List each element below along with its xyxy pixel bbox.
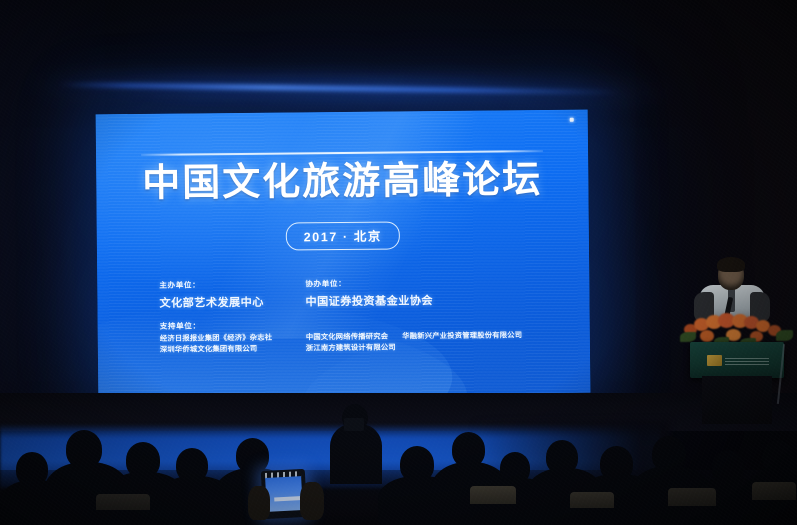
presentation-slide: 中国文化旅游高峰论坛 2017 · 北京 主办单位： 协办单位： 文化部艺术发 (96, 110, 591, 398)
conference-photo: 中国文化旅游高峰论坛 2017 · 北京 主办单位： 协办单位： 文化部艺术发 (0, 0, 797, 525)
supporter-right-1: 中国文化网络传播研究会 (306, 330, 389, 342)
year-location-badge: 2017 · 北京 (286, 221, 401, 250)
podium-area (676, 252, 797, 430)
organizer-values-row: 文化部艺术发展中心 中国证券投资基金业协会 (159, 291, 589, 311)
podium-base (702, 376, 772, 424)
auditorium-floor (0, 470, 797, 525)
speaker-hair (717, 257, 745, 272)
podium-emblem-icon (707, 355, 722, 366)
title-divider-line (141, 150, 543, 156)
podium-sign-text (725, 356, 769, 365)
organizer-labels-row: 主办单位： 协办单位： (159, 276, 589, 292)
left-wall (0, 0, 105, 430)
projection-screen: 中国文化旅游高峰论坛 2017 · 北京 主办单位： 协办单位： 文化部艺术发 (96, 110, 591, 398)
slide-title: 中国文化旅游高峰论坛 (142, 161, 542, 205)
organizer-value: 文化部艺术发展中心 (159, 293, 305, 310)
supporter-right-3: 浙江南方建筑设计有限公司 (306, 340, 590, 354)
organizer-label: 主办单位： (159, 278, 305, 290)
supporters-block: 支持单位： 经济日报报业集团《经济》杂志社 深圳华侨城文化集团有限公司 中国文化… (160, 317, 590, 356)
supporter-left-2: 深圳华侨城文化集团有限公司 (160, 343, 306, 356)
supporters-left-column: 经济日报报业集团《经济》杂志社 深圳华侨城文化集团有限公司 (160, 331, 306, 355)
supporter-right-2: 华融新兴产业投资管理股份有限公司 (402, 329, 522, 341)
podium-sign (707, 354, 769, 366)
supporters-right-column: 中国文化网络传播研究会 华融新兴产业投资管理股份有限公司 浙江南方建筑设计有限公… (306, 329, 590, 354)
supporters-columns: 经济日报报业集团《经济》杂志社 深圳华侨城文化集团有限公司 中国文化网络传播研究… (160, 329, 590, 356)
organizations-block: 主办单位： 协办单位： 文化部艺术发展中心 中国证券投资基金业协会 (97, 276, 590, 356)
slide-content: 中国文化旅游高峰论坛 2017 · 北京 主办单位： 协办单位： 文化部艺术发 (96, 110, 591, 398)
podium-lectern (690, 342, 784, 378)
co-organizer-value: 中国证券投资基金业协会 (305, 291, 589, 310)
co-organizer-label: 协办单位： (305, 276, 589, 290)
